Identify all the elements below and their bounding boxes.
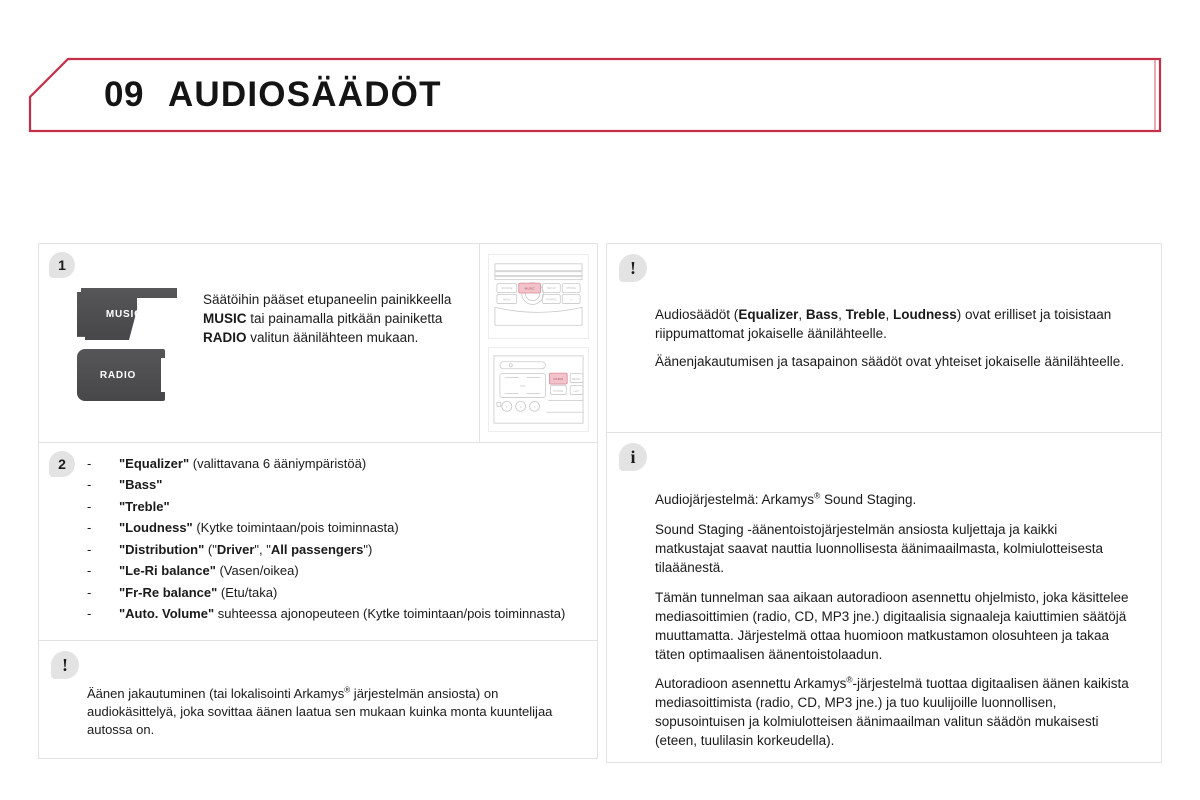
info-paragraph-2: Sound Staging -äänentoistojärjestelmän a… xyxy=(655,521,1129,578)
svg-text:↺: ↺ xyxy=(570,297,573,301)
keyword-equalizer: Equalizer xyxy=(738,307,798,322)
keyword-bass: Bass xyxy=(806,307,838,322)
svg-text:1: 1 xyxy=(506,405,508,409)
access-description: Säätöihin pääset etupaneelin painikkeell… xyxy=(203,286,453,347)
setting-detail: suhteessa ajonopeuteen (Kytke toimintaan… xyxy=(214,606,565,621)
chapter-header-banner: 09 AUDIOSÄÄDÖT xyxy=(28,57,1162,133)
radio-illustrations: MUSIC SOURCE MENU SETUP TRAFFIC PHONE ↺ xyxy=(479,244,597,442)
list-item: - "Equalizer" (valittavana 6 ääniympäris… xyxy=(87,455,583,473)
setting-name: "Treble" xyxy=(119,499,170,514)
inline-radio-keyword: RADIO xyxy=(203,330,247,345)
list-item: - "Bass" xyxy=(87,476,583,494)
keyword-treble: Treble xyxy=(846,307,886,322)
right-note-paragraph-2: Äänenjakautumisen ja tasapainon säädöt o… xyxy=(655,353,1129,372)
list-bullet: - xyxy=(87,584,119,602)
info-p4-before: Autoradioon asennettu Arkamys xyxy=(655,676,846,691)
svg-text:3: 3 xyxy=(534,405,536,409)
list-item: - "Auto. Volume" suhteessa ajonopeuteen … xyxy=(87,605,583,623)
radio-faceplate-radio-highlighted: RADIO VOL MEDIA PHONE NAV 1 2 3 xyxy=(488,347,589,432)
setting-name: "Fr-Re balance" xyxy=(119,585,217,600)
list-item: - "Le-Ri balance" (Vasen/oikea) xyxy=(87,562,583,580)
setting-detail: (Kytke toimintaan/pois toiminnasta) xyxy=(193,520,399,535)
right-column: ! Audiosäädöt (Equalizer, Bass, Treble, … xyxy=(606,243,1162,763)
svg-text:PHONE: PHONE xyxy=(567,286,576,290)
svg-text:MENU: MENU xyxy=(503,297,511,301)
list-bullet: - xyxy=(87,541,119,559)
list-bullet: - xyxy=(87,562,119,580)
hardware-button-graphics: MUSIC RADIO xyxy=(77,286,185,401)
info-paragraph-3: Tämän tunnelman saa aikaan autoradioon a… xyxy=(655,589,1129,665)
setting-detail: (Etu/taka) xyxy=(217,585,277,600)
right-note-paragraph-1: Audiosäädöt (Equalizer, Bass, Treble, Lo… xyxy=(655,306,1129,344)
chapter-title: AUDIOSÄÄDÖT xyxy=(168,75,442,115)
setting-name: "Distribution" xyxy=(119,542,204,557)
access-panel-main: 1 MUSIC RADIO Säätöihin pääset etupaneel… xyxy=(39,244,479,442)
svg-text:NAV: NAV xyxy=(573,389,578,393)
setting-name: "Loudness" xyxy=(119,520,193,535)
step-badge-1: 1 xyxy=(49,252,75,278)
audio-settings-list: - "Equalizer" (valittavana 6 ääniympäris… xyxy=(39,455,583,623)
settings-list-panel: 2 - "Equalizer" (valittavana 6 ääniympär… xyxy=(38,443,598,641)
setting-name: "Le-Ri balance" xyxy=(119,563,216,578)
list-bullet: - xyxy=(87,605,119,623)
right-info-body: Audiojärjestelmä: Arkamys® Sound Staging… xyxy=(607,433,1161,751)
radio-hardware-button[interactable]: RADIO xyxy=(77,349,165,401)
info-paragraph-4: Autoradioon asennettu Arkamys®-järjestel… xyxy=(655,675,1129,751)
left-note-panel: ! Äänen jakautuminen (tai lokalisointi A… xyxy=(38,641,598,759)
setting-detail: (Vasen/oikea) xyxy=(216,563,299,578)
faceplate-radio-drawing: RADIO VOL MEDIA PHONE NAV 1 2 3 xyxy=(489,348,588,431)
svg-text:SOURCE: SOURCE xyxy=(501,286,512,290)
radio-faceplate-music-highlighted: MUSIC SOURCE MENU SETUP TRAFFIC PHONE ↺ xyxy=(488,254,589,339)
svg-text:MEDIA: MEDIA xyxy=(572,377,581,381)
svg-text:RADIO: RADIO xyxy=(553,377,563,381)
chapter-number: 09 xyxy=(104,75,144,115)
inline-music-keyword: MUSIC xyxy=(203,311,247,326)
info-paragraph-1: Audiojärjestelmä: Arkamys® Sound Staging… xyxy=(655,491,1129,510)
setting-name: "Equalizer" xyxy=(119,456,189,471)
exclamation-icon: ! xyxy=(619,254,647,282)
page-title: 09 AUDIOSÄÄDÖT xyxy=(104,75,442,115)
faceplate-music-drawing: MUSIC SOURCE MENU SETUP TRAFFIC PHONE ↺ xyxy=(489,255,588,338)
setting-name: "Bass" xyxy=(119,477,162,492)
left-note-text-before: Äänen jakautuminen (tai lokalisointi Ark… xyxy=(87,686,344,701)
svg-text:TRAFFIC: TRAFFIC xyxy=(546,297,557,301)
list-item: - "Fr-Re balance" (Etu/taka) xyxy=(87,584,583,602)
setting-option-driver: Driver xyxy=(217,542,255,557)
info-p1-after: Sound Staging. xyxy=(820,492,916,507)
list-item: - "Loudness" (Kytke toimintaan/pois toim… xyxy=(87,519,583,537)
right-info-panel: i Audiojärjestelmä: Arkamys® Sound Stagi… xyxy=(606,433,1162,763)
right-note-panel: ! Audiosäädöt (Equalizer, Bass, Treble, … xyxy=(606,243,1162,433)
svg-text:VOL: VOL xyxy=(520,384,526,388)
right-note-body: Audiosäädöt (Equalizer, Bass, Treble, Lo… xyxy=(607,244,1161,372)
svg-text:SETUP: SETUP xyxy=(547,286,556,290)
step-badge-2: 2 xyxy=(49,451,75,477)
list-bullet: - xyxy=(87,519,119,537)
svg-text:MUSIC: MUSIC xyxy=(525,287,536,291)
svg-text:2: 2 xyxy=(520,405,522,409)
setting-name: "Auto. Volume" xyxy=(119,606,214,621)
access-panel: 1 MUSIC RADIO Säätöihin pääset etupaneel… xyxy=(38,243,598,443)
content-area: 1 MUSIC RADIO Säätöihin pääset etupaneel… xyxy=(38,243,1162,763)
setting-option-all-passengers: All passengers xyxy=(271,542,364,557)
list-bullet: - xyxy=(87,455,119,473)
radio-button-label: RADIO xyxy=(100,370,136,381)
music-button-label: MUSIC xyxy=(106,309,142,320)
left-column: 1 MUSIC RADIO Säätöihin pääset etupaneel… xyxy=(38,243,598,763)
keyword-loudness: Loudness xyxy=(893,307,957,322)
list-item: - "Distribution" ("Driver", "All passeng… xyxy=(87,541,583,559)
list-item: - "Treble" xyxy=(87,498,583,516)
music-hardware-button[interactable]: MUSIC xyxy=(77,288,177,340)
setting-detail: (valittavana 6 ääniympäristöä) xyxy=(189,456,366,471)
info-p1-before: Audiojärjestelmä: Arkamys xyxy=(655,492,814,507)
exclamation-icon: ! xyxy=(51,651,79,679)
left-note-text: Äänen jakautuminen (tai lokalisointi Ark… xyxy=(39,641,597,740)
svg-text:PHONE: PHONE xyxy=(554,389,564,393)
list-bullet: - xyxy=(87,498,119,516)
list-bullet: - xyxy=(87,476,119,494)
